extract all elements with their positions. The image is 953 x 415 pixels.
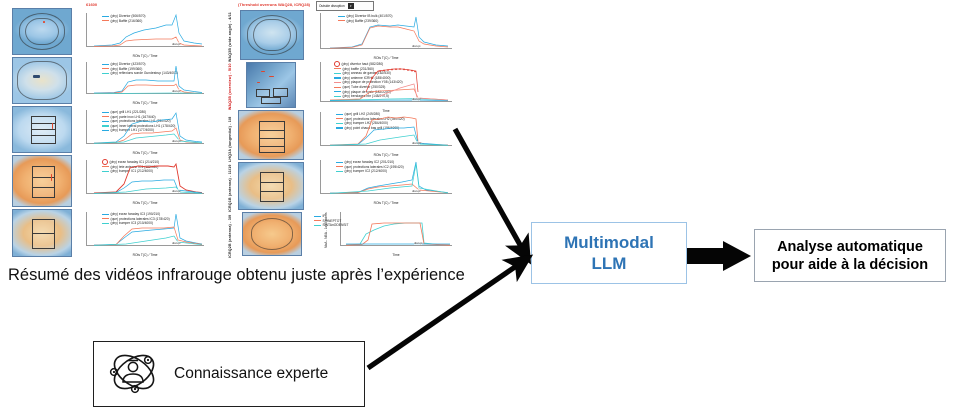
- plot-legend: (phy) Divertor (423/570) (phy) Baffle (1…: [102, 62, 178, 76]
- plot-xlabel: ROIs T(C) / Time: [133, 201, 158, 205]
- plot-xlabel: ROIs T(C) / Time: [133, 101, 158, 105]
- ir-thumbnail-label: ICRQ2B (antenna) - 3/9: [228, 246, 232, 258]
- plot-annotation: disrupt: [172, 42, 180, 46]
- ir-thumbnail-column-right: WAQ3B (wide angle) - 4/11 WAQ2B (overvie…: [232, 0, 300, 258]
- plot-xlabel: ROIs T(C) / Time: [374, 56, 399, 60]
- expert-knowledge-label: Connaissance experte: [174, 365, 328, 383]
- arrow-llm-to-decision: [687, 241, 751, 271]
- chevron-down-icon: ▾: [348, 3, 354, 9]
- plot-legend: (phy) ecran faraday IC1 (214/210) (phy) …: [102, 160, 159, 174]
- plot-annotation: disrupt: [412, 97, 420, 101]
- ir-thumbnail-label: WAQ2B (overview) - 5/10: [228, 98, 232, 110]
- ir-plot: Time NbA - NBA - 1x10 points IP SHINEPTO…: [340, 212, 452, 246]
- plot-legend: (phy) Divertor (506/570) (phy) Baffle (2…: [102, 14, 146, 23]
- ir-thumbnail[interactable]: [12, 209, 72, 257]
- ir-thumbnail[interactable]: [12, 106, 72, 153]
- plot-xlabel: Time: [392, 253, 399, 257]
- plot-xlabel: ROIs T(C) / Time: [133, 54, 158, 58]
- plot-xlabel: ROIs T(C) / Time: [133, 253, 158, 257]
- multimodal-llm-label: Multimodal LLM: [564, 232, 654, 274]
- ir-plot: ROIs T(C) / Time (phy) ecran faraday IC2…: [320, 160, 452, 194]
- ir-plot: ROIs T(C) / Time (phy) Divertor (506/570…: [86, 13, 204, 47]
- plot-legend: IP SHINEPTOT SINTAnODENSIT: [314, 214, 348, 228]
- ir-plot: ROIs T(C) / Time (que) grill LH1 (221/28…: [86, 110, 204, 144]
- plot-legend: (phy) Divertor IB bulk (401/570) (phy) B…: [338, 14, 393, 23]
- multimodal-llm-box[interactable]: Multimodal LLM: [531, 222, 687, 284]
- plot-annotation: disrupt: [172, 189, 180, 193]
- decision-support-box[interactable]: Analyse automatique pour aide à la décis…: [754, 229, 946, 282]
- ir-plot: ROIs T(C) / Time (phy) Divertor IB bulk …: [320, 13, 452, 49]
- plot-annotation: disrupt: [412, 141, 420, 145]
- ir-thumbnail[interactable]: [12, 8, 72, 55]
- plot-xlabel: ROIs T(C) / Time: [374, 153, 399, 157]
- shot-number-label: 61600: [86, 2, 97, 7]
- ir-thumbnail[interactable]: [238, 162, 304, 210]
- decision-support-label: Analyse automatique pour aide à la décis…: [772, 238, 928, 274]
- plot-annotation: disrupt: [412, 44, 420, 48]
- plot-annotation: disrupt: [414, 241, 422, 245]
- ir-thumbnail-column-left: WAQ3B (wide angle) - 5/38 WAQ4B (wide an…: [0, 0, 72, 258]
- plot-annotation: disrupt: [172, 241, 180, 245]
- plot-legend: (phy) ecran faraday IC2 (201/210) (que) …: [336, 160, 404, 174]
- ir-thumbnail[interactable]: [12, 57, 72, 104]
- ir-plot: ROIs T(C) / Time (phy) ecran faraday IC1…: [86, 160, 204, 194]
- ir-plot: ROIs T(C) / Time (phy) ecran faraday IC3…: [86, 212, 204, 246]
- ir-thumbnail[interactable]: [240, 10, 304, 60]
- plot-xlabel: ROIs T(C) / Time: [133, 151, 158, 155]
- plot-annotation: disrupt: [172, 139, 180, 143]
- plot-series: [340, 212, 452, 246]
- ir-thumbnail-label: WAQ3B (wide angle) - 4/11: [228, 50, 232, 62]
- ir-thumbnail-label: ICRQ1B (antenna) - 11/19: [228, 200, 232, 212]
- plot-legend: (que) grill LH2 (249/280) (que) protecti…: [336, 112, 405, 130]
- ir-thumbnail[interactable]: [242, 212, 302, 256]
- plot-legend: (phy) divertor haut (582/280) (phy) baff…: [334, 62, 403, 99]
- plot-legend: (que) grill LH1 (221/280) (que) parte in…: [102, 110, 175, 133]
- dropdown-value: Outside disruption: [319, 4, 345, 8]
- plot-legend: (phy) ecran faraday IC3 (190/210) (que) …: [102, 212, 170, 226]
- ir-summary-caption: Résumé des vidéos infrarouge obtenu just…: [8, 266, 465, 285]
- ir-thumbnail[interactable]: [12, 155, 72, 207]
- ir-plot: ROIs T(C) / Time (que) grill LH2 (249/28…: [320, 112, 452, 146]
- expert-knowledge-box[interactable]: Connaissance experte: [93, 341, 365, 407]
- infrared-summary-screenshot: 61600 (Threshold overruns WAQ28, ICRQ28)…: [0, 0, 470, 258]
- ir-thumbnail[interactable]: [246, 62, 296, 108]
- plot-annotation: disrupt: [412, 189, 420, 193]
- disruption-dropdown[interactable]: Outside disruption ▾: [316, 1, 374, 11]
- plot-annotation: disrupt: [172, 89, 180, 93]
- expert-network-icon: [108, 347, 160, 402]
- plot-xlabel: ROIs T(C) / Time: [374, 201, 399, 205]
- ir-plot: Time (phy) divertor haut (582/280) (phy)…: [320, 62, 452, 102]
- ir-thumbnail[interactable]: [238, 110, 304, 160]
- ir-thumbnail-label: LHQ3A (tangential) - 1/8: [228, 150, 232, 162]
- ir-plot: ROIs T(C) / Time (phy) Divertor (423/570…: [86, 62, 204, 94]
